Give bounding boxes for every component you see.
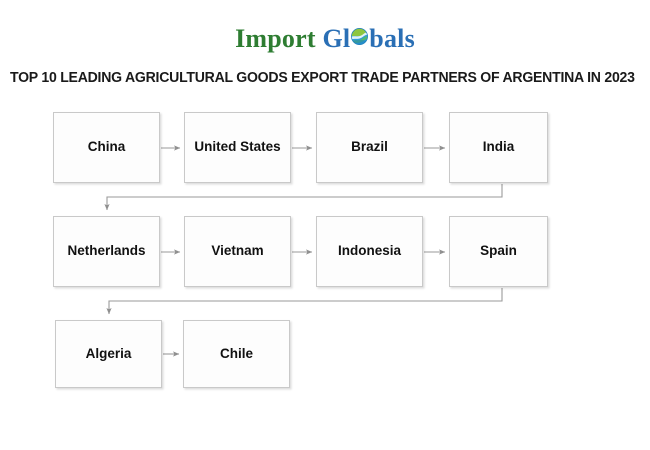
node-china[interactable]: China — [53, 112, 160, 183]
infographic-page: Import Gl bals TOP 10 LEADING AGRICULTUR… — [0, 0, 650, 450]
flow-diagram: China United States Brazil India Netherl… — [0, 0, 650, 450]
arrow-spain-to-algeria — [109, 288, 502, 314]
node-india[interactable]: India — [449, 112, 548, 183]
node-chile[interactable]: Chile — [183, 320, 290, 388]
node-vietnam[interactable]: Vietnam — [184, 216, 291, 287]
arrow-india-to-netherlands — [107, 184, 502, 210]
node-spain[interactable]: Spain — [449, 216, 548, 287]
node-united-states[interactable]: United States — [184, 112, 291, 183]
node-netherlands[interactable]: Netherlands — [53, 216, 160, 287]
node-indonesia[interactable]: Indonesia — [316, 216, 423, 287]
node-algeria[interactable]: Algeria — [55, 320, 162, 388]
node-brazil[interactable]: Brazil — [316, 112, 423, 183]
